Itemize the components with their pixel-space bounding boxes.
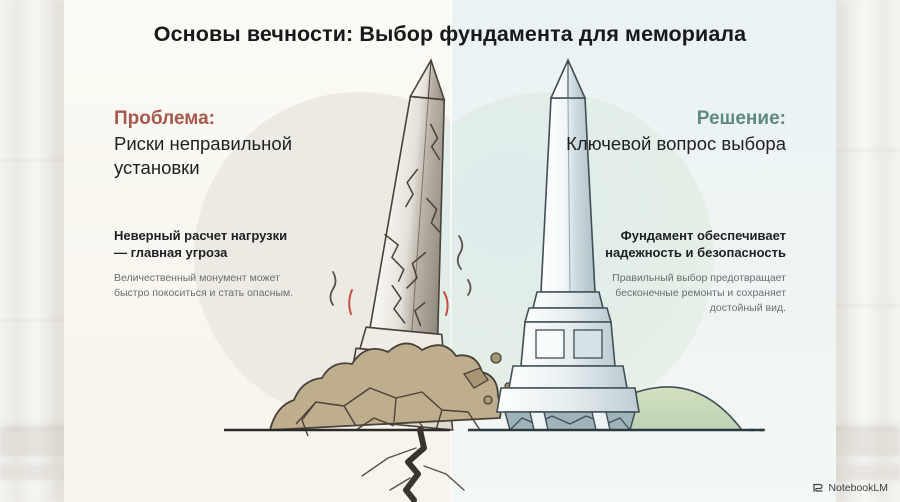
problem-heading-block: Проблема: Риски неправильной установки	[114, 108, 364, 179]
notebooklm-label: NotebookLM	[828, 482, 888, 494]
notebooklm-spiral-icon	[812, 482, 824, 494]
problem-lead: Риски неправильной установки	[114, 132, 364, 178]
notebooklm-watermark: NotebookLM	[812, 482, 888, 494]
solution-detail-body: Правильный выбор предотвращает бесконечн…	[586, 271, 786, 316]
problem-detail-block: Неверный расчет нагрузки — главная угроз…	[114, 228, 296, 301]
solution-lead: Ключевой вопрос выбора	[536, 132, 786, 155]
ground-fissure	[406, 430, 424, 500]
solution-detail-block: Фундамент обеспечивает надежность и безо…	[586, 228, 786, 316]
solution-kicker: Решение:	[536, 108, 786, 130]
problem-kicker: Проблема:	[114, 108, 364, 130]
infographic-card: Основы вечности: Выбор фундамента для ме…	[64, 0, 836, 502]
slide-canvas: Основы вечности: Выбор фундамента для ме…	[0, 0, 900, 502]
page-title: Основы вечности: Выбор фундамента для ме…	[64, 22, 836, 47]
solution-detail-heading: Фундамент обеспечивает надежность и безо…	[586, 228, 786, 262]
solution-heading-block: Решение: Ключевой вопрос выбора	[536, 108, 786, 156]
problem-detail-heading: Неверный расчет нагрузки — главная угроз…	[114, 228, 296, 262]
problem-detail-body: Величественный монумент может быстро пок…	[114, 271, 296, 301]
